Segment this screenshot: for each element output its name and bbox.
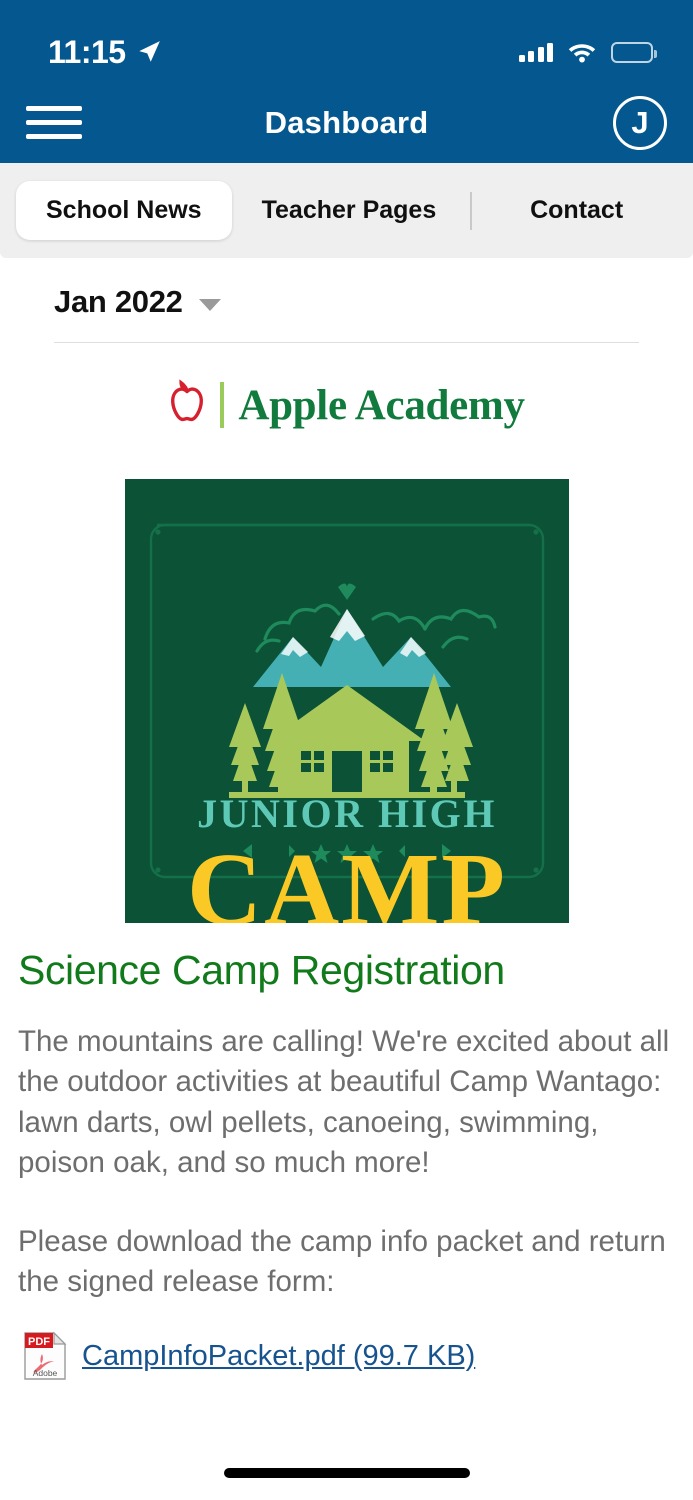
month-selector[interactable]: Jan 2022 xyxy=(0,258,693,320)
attachment-row[interactable]: PDF Adobe CampInfoPacket.pdf (99.7 KB) xyxy=(0,1302,693,1382)
brand-name: Apple Academy xyxy=(238,381,524,430)
article-paragraph-2: Please download the camp info packet and… xyxy=(18,1222,675,1303)
status-bar-right xyxy=(519,41,654,63)
hamburger-menu-icon[interactable] xyxy=(26,101,82,145)
tab-teacher-pages[interactable]: Teacher Pages xyxy=(232,181,467,240)
poster-line2: CAMP xyxy=(187,832,507,923)
junior-high-camp-poster: JUNIOR HIGH CAMP REGISTER BY MAY 5 xyxy=(125,479,569,923)
avatar-initial: J xyxy=(631,105,648,141)
status-bar-left: 11:15 xyxy=(48,34,162,71)
status-bar-time: 11:15 xyxy=(48,34,126,71)
battery-full-icon xyxy=(611,42,653,63)
pdf-file-icon: PDF Adobe xyxy=(22,1330,68,1382)
svg-text:PDF: PDF xyxy=(28,1336,50,1348)
page-title: Dashboard xyxy=(0,105,693,141)
chevron-down-icon[interactable] xyxy=(199,299,221,311)
article-body: Science Camp Registration The mountains … xyxy=(0,923,693,1302)
mobile-app-screen: 11:15 Dashboard J School News Teacher Pa… xyxy=(0,0,693,1500)
month-selector-label: Jan 2022 xyxy=(54,284,183,320)
home-indicator xyxy=(224,1468,470,1478)
tab-separator xyxy=(470,192,472,230)
apple-logo-icon xyxy=(168,379,206,431)
status-bar: 11:15 xyxy=(0,0,693,82)
tab-school-news[interactable]: School News xyxy=(16,181,232,240)
location-arrow-icon xyxy=(136,39,162,65)
tab-bar: School News Teacher Pages Contact xyxy=(0,163,693,258)
wifi-icon xyxy=(567,41,597,63)
article-paragraph-1: The mountains are calling! We're excited… xyxy=(18,1022,675,1184)
navigation-bar: Dashboard J xyxy=(0,82,693,163)
camp-poster-graphic: JUNIOR HIGH CAMP REGISTER BY MAY 5 xyxy=(125,479,569,923)
poster-line1: JUNIOR HIGH xyxy=(197,791,497,836)
school-brand-logo: Apple Academy xyxy=(0,343,693,441)
svg-text:Adobe: Adobe xyxy=(33,1368,58,1378)
article-image-container: JUNIOR HIGH CAMP REGISTER BY MAY 5 xyxy=(0,441,693,923)
avatar[interactable]: J xyxy=(613,96,667,150)
attachment-link[interactable]: CampInfoPacket.pdf (99.7 KB) xyxy=(82,1340,475,1373)
cellular-signal-icon xyxy=(519,43,554,62)
tab-contact[interactable]: Contact xyxy=(500,181,653,240)
brand-divider xyxy=(220,382,224,428)
article-headline: Science Camp Registration xyxy=(18,947,675,994)
